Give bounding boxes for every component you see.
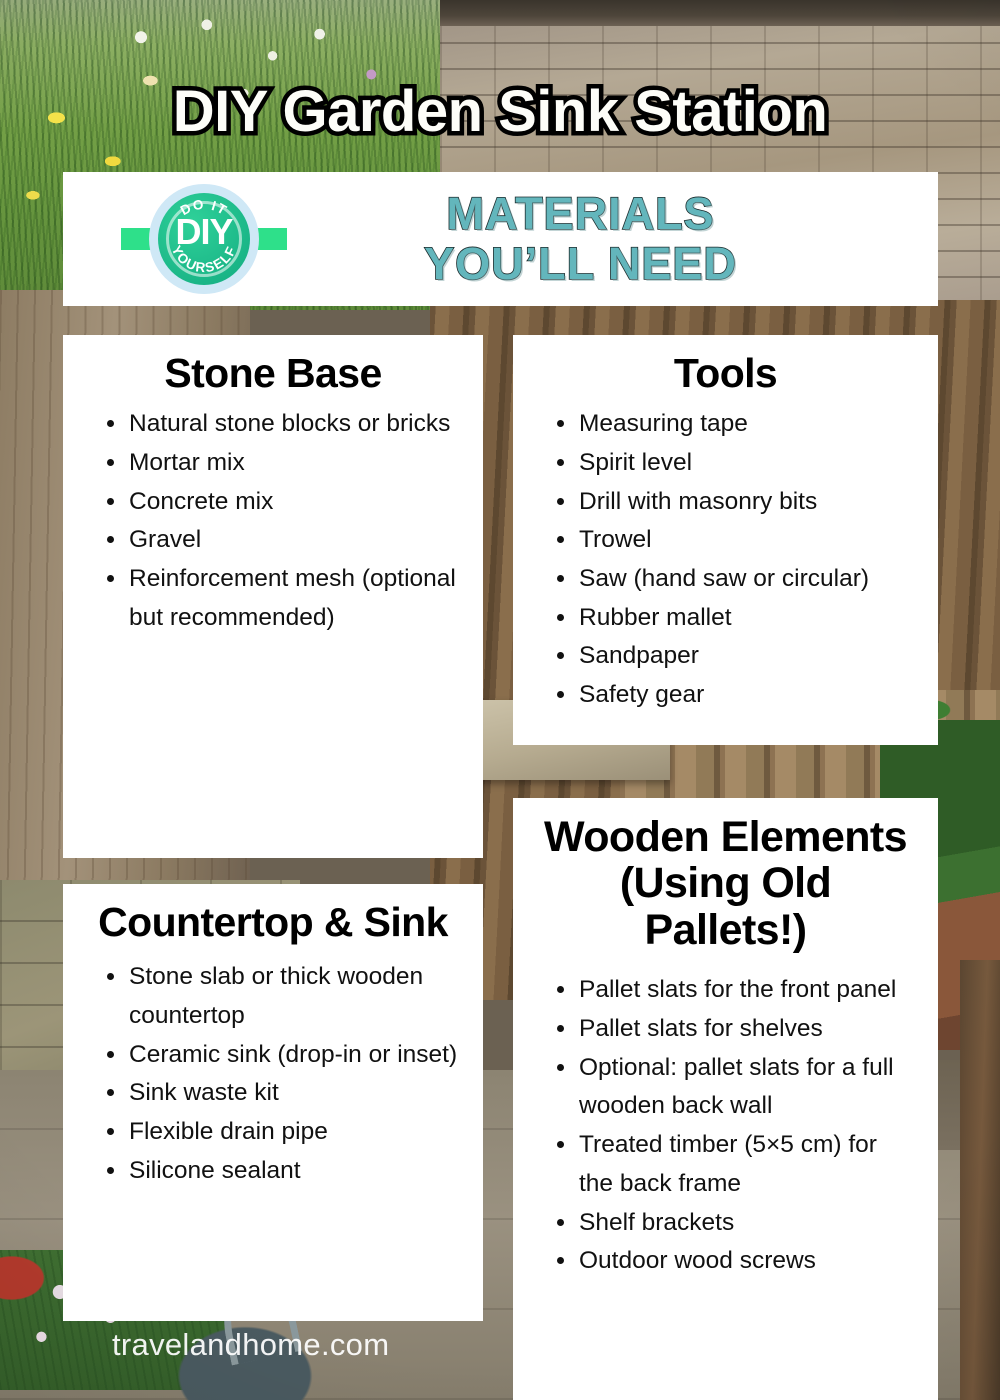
diy-badge-logo: DO IT YOURSELF DIY [145,180,263,298]
materials-header-card: DO IT YOURSELF DIY MATERIALS YOU’LL NEED [63,172,938,306]
infographic-content: DIY Garden Sink Station DO IT YOURSELF D… [0,0,1000,1400]
page-title: DIY Garden Sink Station [0,78,1000,145]
list-item: Shelf brackets [553,1204,916,1243]
card-tools-list: Measuring tapeSpirit levelDrill with mas… [535,405,916,715]
card-tools-heading: Tools [535,351,916,395]
card-countertop-sink-list: Stone slab or thick wooden countertopCer… [85,958,461,1190]
card-tools: Tools Measuring tapeSpirit levelDrill wi… [513,335,938,745]
list-item: Treated timber (5×5 cm) for the back fra… [553,1126,916,1203]
list-item: Gravel [103,521,461,560]
card-wooden-elements-heading: Wooden Elements (Using Old Pallets!) [535,814,916,953]
list-item: Trowel [553,521,916,560]
materials-heading-line1: MATERIALS [263,189,898,239]
list-item: Stone slab or thick wooden countertop [103,958,461,1035]
list-item: Outdoor wood screws [553,1242,916,1281]
list-item: Spirit level [553,444,916,483]
list-item: Concrete mix [103,483,461,522]
card-countertop-sink-heading: Countertop & Sink [85,900,461,944]
materials-heading: MATERIALS YOU’LL NEED [263,189,938,290]
card-stone-base-heading: Stone Base [85,351,461,395]
badge-main-text: DIY [145,214,263,250]
list-item: Drill with masonry bits [553,483,916,522]
materials-heading-line2: YOU’LL NEED [263,239,898,289]
list-item: Mortar mix [103,444,461,483]
card-stone-base-list: Natural stone blocks or bricksMortar mix… [85,405,461,637]
list-item: Optional: pallet slats for a full wooden… [553,1049,916,1126]
list-item: Pallet slats for the front panel [553,971,916,1010]
list-item: Silicone sealant [103,1152,461,1191]
list-item: Measuring tape [553,405,916,444]
list-item: Saw (hand saw or circular) [553,560,916,599]
list-item: Sandpaper [553,637,916,676]
list-item: Rubber mallet [553,599,916,638]
card-countertop-sink: Countertop & Sink Stone slab or thick wo… [63,884,483,1321]
site-watermark: travelandhome.com [112,1327,389,1363]
list-item: Natural stone blocks or bricks [103,405,461,444]
card-stone-base: Stone Base Natural stone blocks or brick… [63,335,483,858]
list-item: Safety gear [553,676,916,715]
list-item: Sink waste kit [103,1074,461,1113]
list-item: Flexible drain pipe [103,1113,461,1152]
list-item: Pallet slats for shelves [553,1010,916,1049]
list-item: Ceramic sink (drop-in or inset) [103,1036,461,1075]
card-wooden-elements: Wooden Elements (Using Old Pallets!) Pal… [513,798,938,1400]
list-item: Reinforcement mesh (optional but recomme… [103,560,461,637]
card-wooden-elements-list: Pallet slats for the front panelPallet s… [535,971,916,1281]
